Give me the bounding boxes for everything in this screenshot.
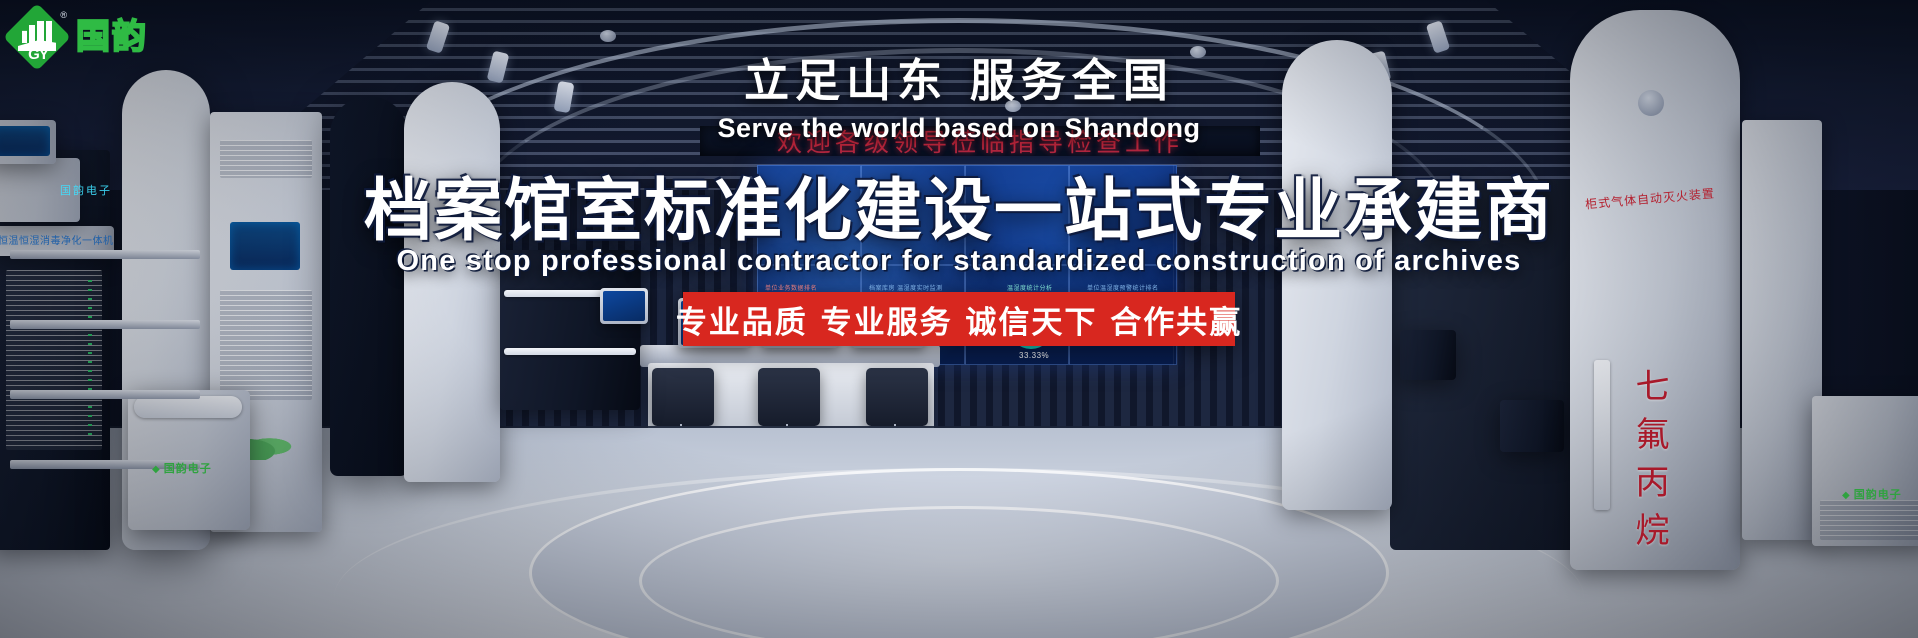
video-wall-title: 单位业务数据排名 [765,283,817,292]
right-shelf-box [1400,330,1456,380]
hero-slogan-band: 专业品质 专业服务 诚信天下 合作共赢 [683,292,1235,346]
office-chair [758,368,820,426]
video-wall-title: 温湿度统计分析 [1007,283,1053,292]
hero-headline-cn: 档案馆室标准化建设一站式专业承建商 [0,155,1918,254]
hero-kicker-en: Serve the world based on Shandong [0,113,1918,144]
right-corner-unit-vent [1820,500,1918,540]
wall-mounted-screen [600,288,648,324]
logo-initials: GY [23,46,53,63]
left-machine-brand: 国韵电子 [152,460,212,476]
logo-mark-icon: GY ® [8,8,66,66]
logo-wordmark: 国韵 [76,20,148,54]
office-chair [652,368,714,426]
air-unit-lower-vent [220,290,312,400]
site-logo[interactable]: GY ® 国韵 [8,6,198,68]
hero-banner: 欢迎各级领导莅临指导检查工作 单位业务数据排名 档案库房 温湿度实时监测 温湿度… [0,0,1918,638]
video-wall-title: 档案库房 温湿度实时监测 [869,283,943,292]
hero-kicker-cn: 立足山东 服务全国 [0,44,1918,109]
right-shelf-box [1500,400,1564,452]
registered-trademark-icon: ® [60,10,67,20]
hero-slogan-text: 专业品质 专业服务 诚信天下 合作共赢 [676,297,1242,342]
cabinet-access-door [1594,360,1610,510]
left-mobile-unit-handle [134,396,242,418]
left-cabinet-leds [88,280,92,440]
left-dark-pillar [330,96,408,476]
left-shelf [504,348,636,355]
right-shelf [10,390,200,399]
right-shelf [10,320,200,329]
video-wall-title: 单位温湿度预警统计排名 [1087,283,1159,292]
hero-headline-en: One stop professional contractor for sta… [0,245,1918,278]
right-machine-brand: 国韵电子 [1842,486,1902,502]
sprinkler-icon [600,30,616,42]
office-chair [866,368,928,426]
video-wall-stat: 33.33% [1019,351,1049,360]
heptafluoropropane-vertical-label: 七氟丙烷 [1625,368,1674,560]
